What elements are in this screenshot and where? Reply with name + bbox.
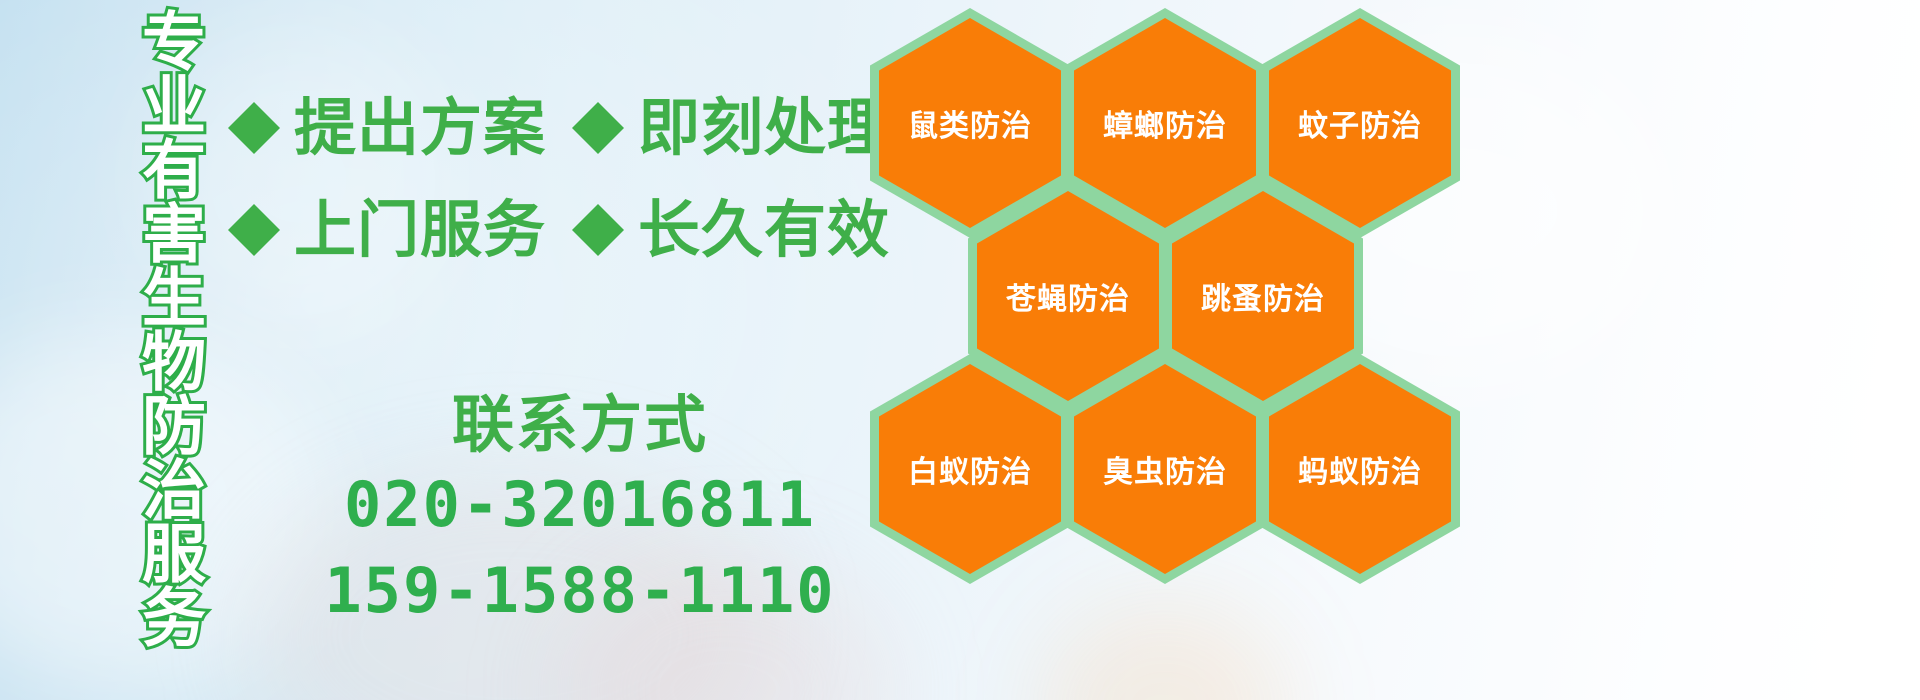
diamond-icon (228, 76, 280, 128)
feature-label: 即刻处理 (638, 97, 890, 159)
feature-item: 即刻处理 (572, 97, 890, 159)
service-label: 鼠类防治 (908, 101, 1032, 145)
service-label: 苍蝇防治 (1006, 274, 1130, 318)
phone-number-mobile[interactable]: 159-1588-1110 (300, 553, 860, 629)
feature-item: 长久有效 (572, 199, 890, 261)
feature-label: 长久有效 (638, 199, 890, 261)
feature-item: 提出方案 (228, 97, 546, 159)
vertical-headline: 专业有害生物防治服务 (104, 8, 200, 648)
service-label: 蚂蚁防治 (1298, 447, 1422, 491)
diamond-icon (228, 178, 280, 230)
feature-row: 提出方案 即刻处理 (228, 82, 890, 174)
service-label: 白蚁防治 (908, 447, 1032, 491)
feature-list: 提出方案 即刻处理 上门服务 长久有效 (228, 82, 890, 286)
feature-label: 提出方案 (294, 97, 546, 159)
service-label: 蟑螂防治 (1103, 101, 1227, 145)
service-label: 跳蚤防治 (1201, 274, 1325, 318)
diamond-icon (572, 76, 624, 128)
contact-block: 联系方式 020-32016811 159-1588-1110 (300, 392, 860, 628)
service-label: 臭虫防治 (1103, 447, 1227, 491)
service-label: 蚊子防治 (1298, 101, 1422, 145)
contact-heading: 联系方式 (300, 392, 860, 457)
feature-row: 上门服务 长久有效 (228, 184, 890, 276)
feature-label: 上门服务 (294, 199, 546, 261)
feature-item: 上门服务 (228, 199, 546, 261)
diamond-icon (572, 178, 624, 230)
phone-number-landline[interactable]: 020-32016811 (300, 467, 860, 543)
service-honeycomb: 鼠类防治 蟑螂防治 蚊子防治 苍蝇防治 跳蚤防治 白蚁防治 臭虫防治 蚂蚁 (860, 0, 1480, 640)
pest-control-banner: 专业有害生物防治服务 提出方案 即刻处理 上门服务 长久有效 (0, 0, 1920, 700)
